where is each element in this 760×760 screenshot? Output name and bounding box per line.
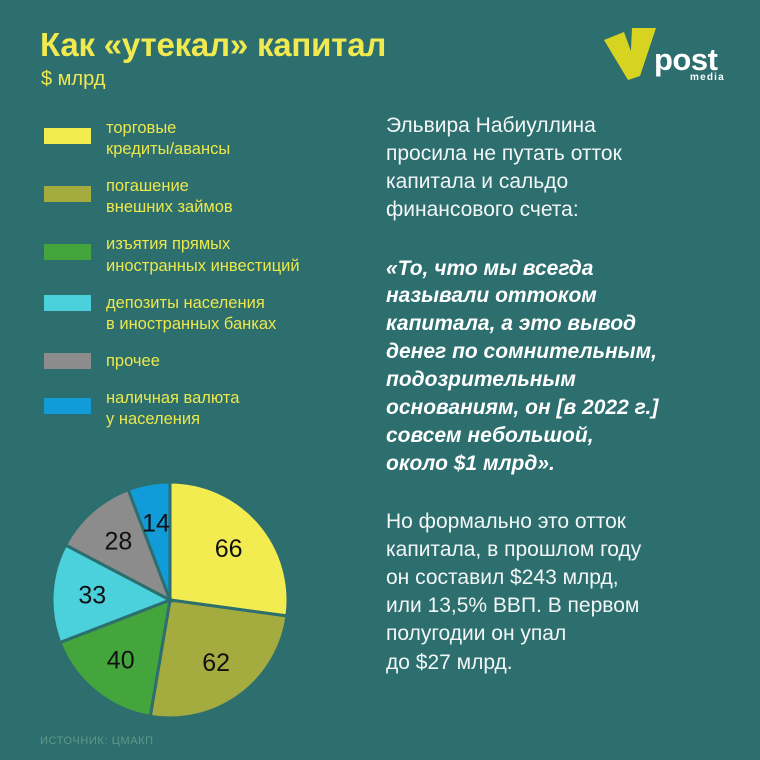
legend-item: наличная валюта у населения	[44, 388, 364, 430]
legend-item-label: погашение внешних займов	[106, 176, 233, 218]
legend-item-label: наличная валюта у населения	[106, 388, 239, 430]
infographic-canvas: Как «утекал» капитал $ млрд post media т…	[0, 0, 760, 760]
page-subtitle: $ млрд	[41, 68, 105, 91]
page-title: Как «утекал» капитал	[40, 26, 386, 64]
pie-slice-value: 14	[142, 509, 170, 537]
pie-chart: 666240332814	[44, 472, 300, 728]
legend-item: торговые кредиты/авансы	[44, 118, 364, 160]
logo-wordmark: post	[654, 44, 717, 75]
legend-item-label: прочее	[106, 351, 160, 372]
legend-item: прочее	[44, 351, 364, 372]
pie-chart-svg: 666240332814	[44, 472, 300, 728]
chart-legend: торговые кредиты/авансы погашение внешни…	[44, 118, 364, 446]
intro-paragraph: Эльвира Набиуллина просила не путать отт…	[386, 112, 726, 225]
pie-slice-value: 33	[78, 581, 106, 609]
legend-item: изъятия прямых иностранных инвестиций	[44, 234, 364, 276]
pie-slice-value: 40	[107, 646, 135, 674]
legend-swatch-icon	[44, 128, 91, 144]
commentary-column: Эльвира Набиуллина просила не путать отт…	[386, 112, 726, 677]
legend-item: погашение внешних займов	[44, 176, 364, 218]
brand-logo: post media	[602, 26, 732, 96]
legend-swatch-icon	[44, 353, 91, 369]
pie-slice-value: 66	[215, 535, 243, 563]
source-note: ИСТОЧНИК: ЦМАКП	[40, 735, 154, 747]
logo-tagline: media	[690, 73, 725, 83]
legend-swatch-icon	[44, 295, 91, 311]
pie-slice-value: 28	[105, 528, 133, 556]
legend-item-label: торговые кредиты/авансы	[106, 118, 230, 160]
legend-item: депозиты населения в иностранных банках	[44, 293, 364, 335]
legend-item-label: изъятия прямых иностранных инвестиций	[106, 234, 300, 276]
pie-slice-value: 62	[202, 649, 230, 677]
legend-swatch-icon	[44, 186, 91, 202]
legend-swatch-icon	[44, 398, 91, 414]
quote-paragraph: «То, что мы всегда называли оттоком капи…	[386, 255, 726, 478]
legend-swatch-icon	[44, 244, 91, 260]
outro-paragraph: Но формально это отток капитала, в прошл…	[386, 508, 726, 677]
legend-item-label: депозиты населения в иностранных банках	[106, 293, 276, 335]
